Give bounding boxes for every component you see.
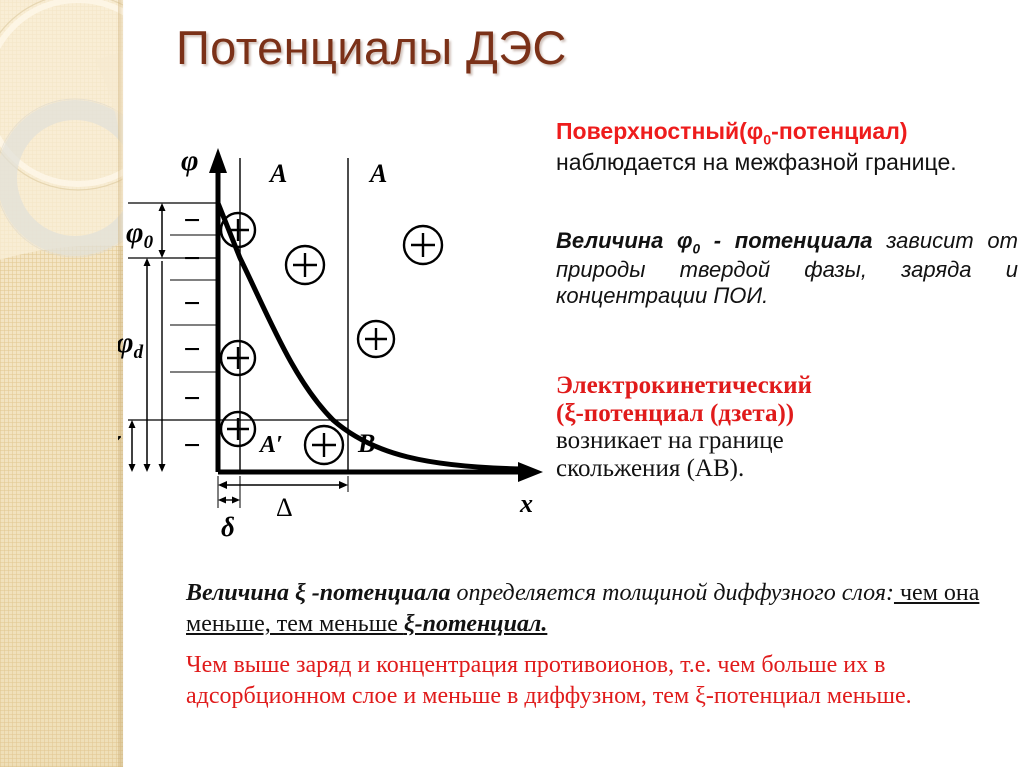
- electrokinetic-heading-line1: Электрокинетический: [556, 372, 1018, 400]
- text-block-phi0-magnitude: Величина φ0 - потенциала зависит от прир…: [556, 228, 1018, 308]
- surface-potential-lead-sub: 0: [763, 133, 771, 149]
- des-potential-diagram: − − − − − − φ x φ0 φd ζ A A A′ B δ Δ: [118, 140, 568, 540]
- surface-potential-body: наблюдается на межфазной границе.: [556, 149, 957, 175]
- electrokinetic-body-line1: возникает на границе: [556, 427, 1018, 455]
- svg-text:−: −: [183, 333, 200, 366]
- phi0-symbol: φ: [677, 228, 692, 253]
- x-axis-arrowhead: [518, 462, 543, 482]
- dimension-delta-big: [218, 476, 348, 492]
- phi0-dash: -: [714, 228, 721, 253]
- phi0-symbol-sub: 0: [692, 241, 700, 256]
- label-plane-a-left: A: [268, 159, 287, 188]
- positive-charges: [221, 213, 442, 464]
- bottom-p1-italic: определяется толщиной диффузного слоя:: [450, 580, 894, 606]
- svg-text:−: −: [183, 204, 200, 237]
- electrokinetic-heading-line2: (ξ-потенциал (дзета)): [556, 400, 1018, 428]
- bottom-p1-underline-bold: ξ-потенциал.: [404, 611, 547, 637]
- text-block-surface-potential: Поверхностный(φ0-потенциал) наблюдается …: [556, 118, 1018, 177]
- label-phid: φd: [118, 326, 144, 363]
- y-axis-arrowhead: [209, 148, 227, 173]
- label-phi0: φ0: [126, 216, 154, 253]
- phi0-lead: Величина: [556, 228, 663, 253]
- bottom-paragraph-definition: Величина ξ -потенциала определяется толщ…: [186, 578, 986, 640]
- bottom-paragraph-conclusion: Чем выше заряд и концентрация противоион…: [186, 650, 1006, 711]
- text-block-electrokinetic: Электрокинетический (ξ-потенциал (дзета)…: [556, 372, 1018, 484]
- label-delta-big: Δ: [276, 493, 293, 522]
- axis-label-x: x: [519, 489, 533, 518]
- surface-potential-lead-2: -потенциал): [771, 118, 907, 144]
- surface-potential-lead-1: Поверхностный(φ: [556, 118, 763, 144]
- negative-charges: − − − − − −: [183, 204, 200, 462]
- bottom-p1-bold-italic: Величина ξ -потенциала: [186, 580, 450, 606]
- axis-label-phi: φ: [181, 144, 199, 177]
- label-plane-a-prime: A′: [258, 432, 283, 458]
- dimension-zeta: [129, 420, 136, 472]
- svg-text:−: −: [183, 382, 200, 415]
- dimension-phi0: [159, 203, 166, 258]
- dimension-phid: [144, 258, 151, 472]
- svg-text:−: −: [183, 287, 200, 320]
- phi0-lead-tail: потенциала: [735, 228, 873, 253]
- label-plane-a-right: A: [368, 159, 387, 188]
- page-title: Потенциалы ДЭС: [176, 22, 567, 75]
- label-zeta: ζ: [118, 429, 122, 465]
- svg-text:−: −: [183, 242, 200, 275]
- svg-text:−: −: [183, 429, 200, 462]
- label-plane-b: B: [357, 429, 375, 458]
- electrokinetic-body-line2: скольжения (AB).: [556, 455, 1018, 483]
- decorative-side-band: [0, 0, 123, 767]
- decorative-circles: [0, 0, 123, 767]
- label-delta-small: δ: [221, 512, 235, 540]
- dimension-delta-small: [218, 476, 240, 508]
